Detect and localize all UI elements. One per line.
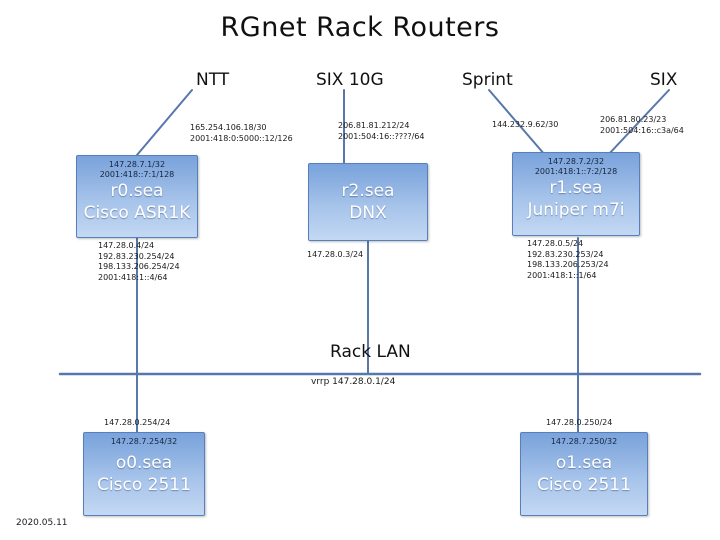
network-diagram-canvas: RGnet Rack Routers NTT SIX 10G Sprint SI… [0, 0, 720, 540]
peer-ip-sprint: 144.232.9.62/30 [492, 120, 558, 131]
router-r1-sea-loopback-v4: 147.28.7.2/32 [535, 157, 617, 167]
peer-label-six: SIX [650, 70, 677, 90]
router-r1-sea-lan-address-3: 2001:418:1::1/64 [527, 271, 609, 282]
router-r1-sea-lan-addresses: 147.28.0.5/24 192.83.230.253/24 198.133.… [527, 239, 609, 281]
console-o1-sea-model: Cisco 2511 [537, 474, 631, 496]
router-r0-sea-lan-address-0: 147.28.0.4/24 [98, 241, 180, 252]
rack-lan-vrrp-label: vrrp 147.28.0.1/24 [311, 377, 395, 387]
console-o0-sea-model: Cisco 2511 [97, 474, 191, 496]
console-o0-sea-lan-address-group: 147.28.0.254/24 [104, 418, 170, 429]
console-o0-sea-hostname: o0.sea [116, 452, 172, 474]
router-r2-sea[interactable]: r2.sea DNX [308, 163, 428, 241]
peer-ip-ntt: 165.254.106.18/30 2001:418:0:5000::12/12… [190, 123, 293, 144]
peer-label-ntt: NTT [196, 70, 229, 90]
peer-ip-six-v6: 2001:504:16::c3a/64 [600, 126, 684, 137]
peer-ip-sprint-v4: 144.232.9.62/30 [492, 120, 558, 131]
console-o1-sea-lan-address: 147.28.0.250/24 [546, 418, 612, 429]
page-title: RGnet Rack Routers [0, 12, 720, 43]
console-o0-sea-lan-address: 147.28.0.254/24 [104, 418, 170, 429]
rack-lan-label: Rack LAN [330, 342, 411, 362]
router-r2-sea-model: DNX [349, 202, 386, 224]
router-r0-sea-hostname: r0.sea [111, 180, 164, 202]
router-r0-sea-lan-address-2: 198.133.206.254/24 [98, 262, 180, 273]
router-r1-sea-lan-address-0: 147.28.0.5/24 [527, 239, 609, 250]
peer-label-sprint: Sprint [462, 70, 513, 90]
console-o0-sea-loopbacks: 147.28.7.254/32 [111, 437, 177, 447]
console-o1-sea-hostname: o1.sea [556, 452, 612, 474]
console-o1-sea-loopbacks: 147.28.7.250/32 [551, 437, 617, 447]
link-ntt-to-r0 [137, 90, 192, 155]
router-r1-sea-lan-address-2: 198.133.206.253/24 [527, 260, 609, 271]
router-r1-sea-loopbacks: 147.28.7.2/32 2001:418:1::7:2/128 [535, 157, 617, 177]
router-r1-sea-hostname: r1.sea [550, 177, 603, 199]
router-r0-sea-loopbacks: 147.28.7.1/32 2001:418::7:1/128 [100, 160, 175, 180]
peer-label-six-10g: SIX 10G [316, 70, 384, 90]
router-r2-sea-hostname: r2.sea [342, 180, 395, 202]
console-o0-sea[interactable]: 147.28.7.254/32 o0.sea Cisco 2511 [83, 432, 205, 516]
date-stamp: 2020.05.11 [16, 518, 68, 528]
router-r1-sea-lan-address-1: 192.83.230.253/24 [527, 250, 609, 261]
console-o1-sea-lan-address-group: 147.28.0.250/24 [546, 418, 612, 429]
router-r0-sea-loopback-v6: 2001:418::7:1/128 [100, 170, 175, 180]
console-o1-sea[interactable]: 147.28.7.250/32 o1.sea Cisco 2511 [520, 432, 648, 516]
router-r2-sea-lan-addresses: 147.28.0.3/24 [307, 250, 363, 261]
peer-ip-six-10g-v4: 206.81.81.212/24 [338, 121, 424, 132]
router-r0-sea-loopback-v4: 147.28.7.1/32 [100, 160, 175, 170]
console-o0-sea-loopback-v4: 147.28.7.254/32 [111, 437, 177, 447]
console-o1-sea-loopback-v4: 147.28.7.250/32 [551, 437, 617, 447]
router-r0-sea-lan-address-1: 192.83.230.254/24 [98, 252, 180, 263]
peer-ip-six-10g-v6: 2001:504:16::????/64 [338, 132, 424, 143]
router-r0-sea-lan-addresses: 147.28.0.4/24 192.83.230.254/24 198.133.… [98, 241, 180, 283]
peer-ip-ntt-v4: 165.254.106.18/30 [190, 123, 293, 134]
peer-ip-six-v4: 206.81.80.23/23 [600, 115, 684, 126]
router-r2-sea-lan-address-0: 147.28.0.3/24 [307, 250, 363, 261]
router-r0-sea[interactable]: 147.28.7.1/32 2001:418::7:1/128 r0.sea C… [76, 155, 198, 238]
router-r0-sea-model: Cisco ASR1K [84, 202, 191, 224]
peer-ip-six: 206.81.80.23/23 2001:504:16::c3a/64 [600, 115, 684, 136]
router-r1-sea-loopback-v6: 2001:418:1::7:2/128 [535, 167, 617, 177]
router-r0-sea-lan-address-3: 2001:418:1::4/64 [98, 273, 180, 284]
router-r1-sea[interactable]: 147.28.7.2/32 2001:418:1::7:2/128 r1.sea… [512, 152, 640, 236]
peer-ip-ntt-v6: 2001:418:0:5000::12/126 [190, 134, 293, 145]
router-r1-sea-model: Juniper m7i [527, 199, 624, 221]
peer-ip-six-10g: 206.81.81.212/24 2001:504:16::????/64 [338, 121, 424, 142]
